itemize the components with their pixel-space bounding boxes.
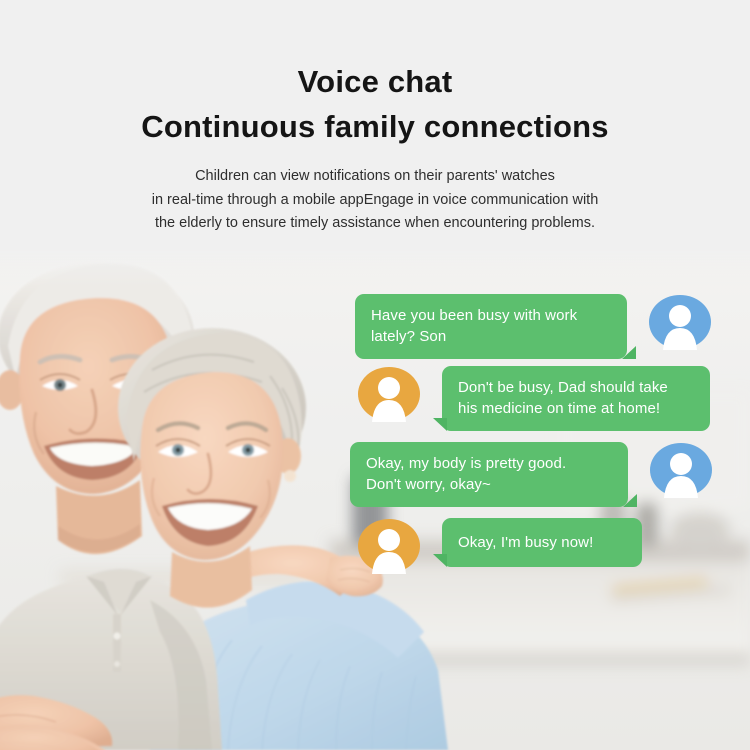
message-line: Okay, I'm busy now! [458, 532, 627, 553]
person-icon [358, 518, 420, 574]
person-icon [649, 294, 711, 350]
avatar-orange[interactable] [358, 366, 420, 422]
person-icon [358, 366, 420, 422]
chat-message-4: Okay, I'm busy now! [358, 518, 642, 574]
message-line: Okay, my body is pretty good. [366, 453, 613, 474]
avatar-orange[interactable] [358, 518, 420, 574]
avatar-blue[interactable] [650, 442, 712, 498]
message-line: Don't worry, okay~ [366, 474, 613, 495]
message-line: his medicine on time at home! [458, 398, 695, 419]
chat-message-2: Don't be busy, Dad should take his medic… [358, 366, 710, 431]
message-bubble[interactable]: Don't be busy, Dad should take his medic… [442, 366, 710, 431]
chat-overlay: Have you been busy with work lately? Son [0, 0, 750, 750]
chat-message-1: Have you been busy with work lately? Son [355, 294, 711, 359]
message-bubble[interactable]: Okay, I'm busy now! [442, 518, 642, 567]
person-icon [650, 442, 712, 498]
message-line: Don't be busy, Dad should take [458, 377, 695, 398]
message-bubble[interactable]: Okay, my body is pretty good. Don't worr… [350, 442, 628, 507]
promo-banner: Voice chat Continuous family connections… [0, 0, 750, 750]
message-line: lately? Son [371, 326, 612, 347]
message-line: Have you been busy with work [371, 305, 612, 326]
chat-message-3: Okay, my body is pretty good. Don't worr… [350, 442, 712, 507]
message-bubble[interactable]: Have you been busy with work lately? Son [355, 294, 627, 359]
avatar-blue[interactable] [649, 294, 711, 350]
